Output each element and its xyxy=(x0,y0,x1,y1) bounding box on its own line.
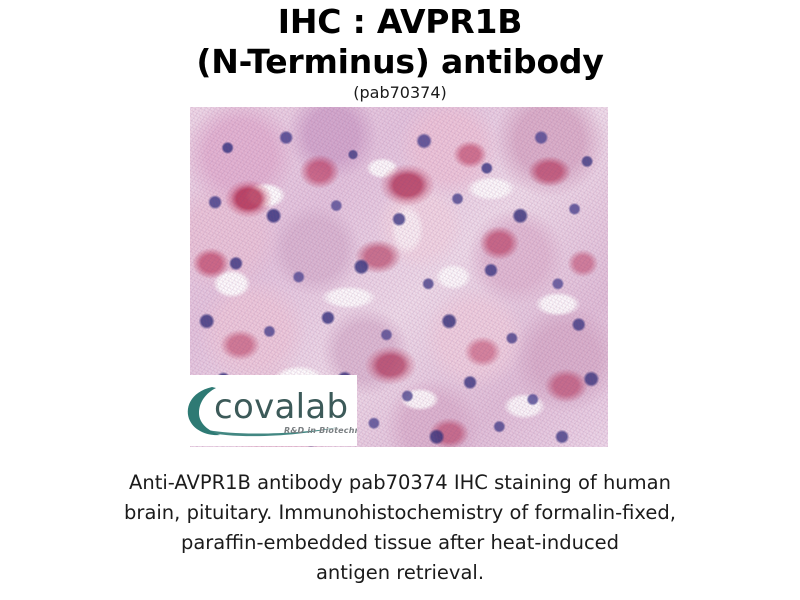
covalab-logo-svg: covalab R&D in Biotechnology xyxy=(176,375,357,446)
figure-page: IHC : AVPR1B (N-Terminus) antibody (pab7… xyxy=(0,0,800,600)
figure-caption: Anti-AVPR1B antibody pab70374 IHC staini… xyxy=(60,468,740,588)
page-title-line-2: (N-Terminus) antibody xyxy=(0,42,800,82)
catalog-number-subtitle: (pab70374) xyxy=(0,83,800,102)
caption-line-3: paraffin-embedded tissue after heat-indu… xyxy=(60,528,740,558)
covalab-tagline: R&D in Biotechnology xyxy=(284,426,357,435)
covalab-wordmark: covalab xyxy=(214,387,348,427)
title-block: IHC : AVPR1B (N-Terminus) antibody (pab7… xyxy=(0,2,800,102)
page-title-line-1: IHC : AVPR1B xyxy=(0,2,800,42)
covalab-logo: covalab R&D in Biotechnology xyxy=(176,375,357,446)
caption-line-2: brain, pituitary. Immunohistochemistry o… xyxy=(60,498,740,528)
caption-line-4: antigen retrieval. xyxy=(60,558,740,588)
caption-line-1: Anti-AVPR1B antibody pab70374 IHC staini… xyxy=(60,468,740,498)
